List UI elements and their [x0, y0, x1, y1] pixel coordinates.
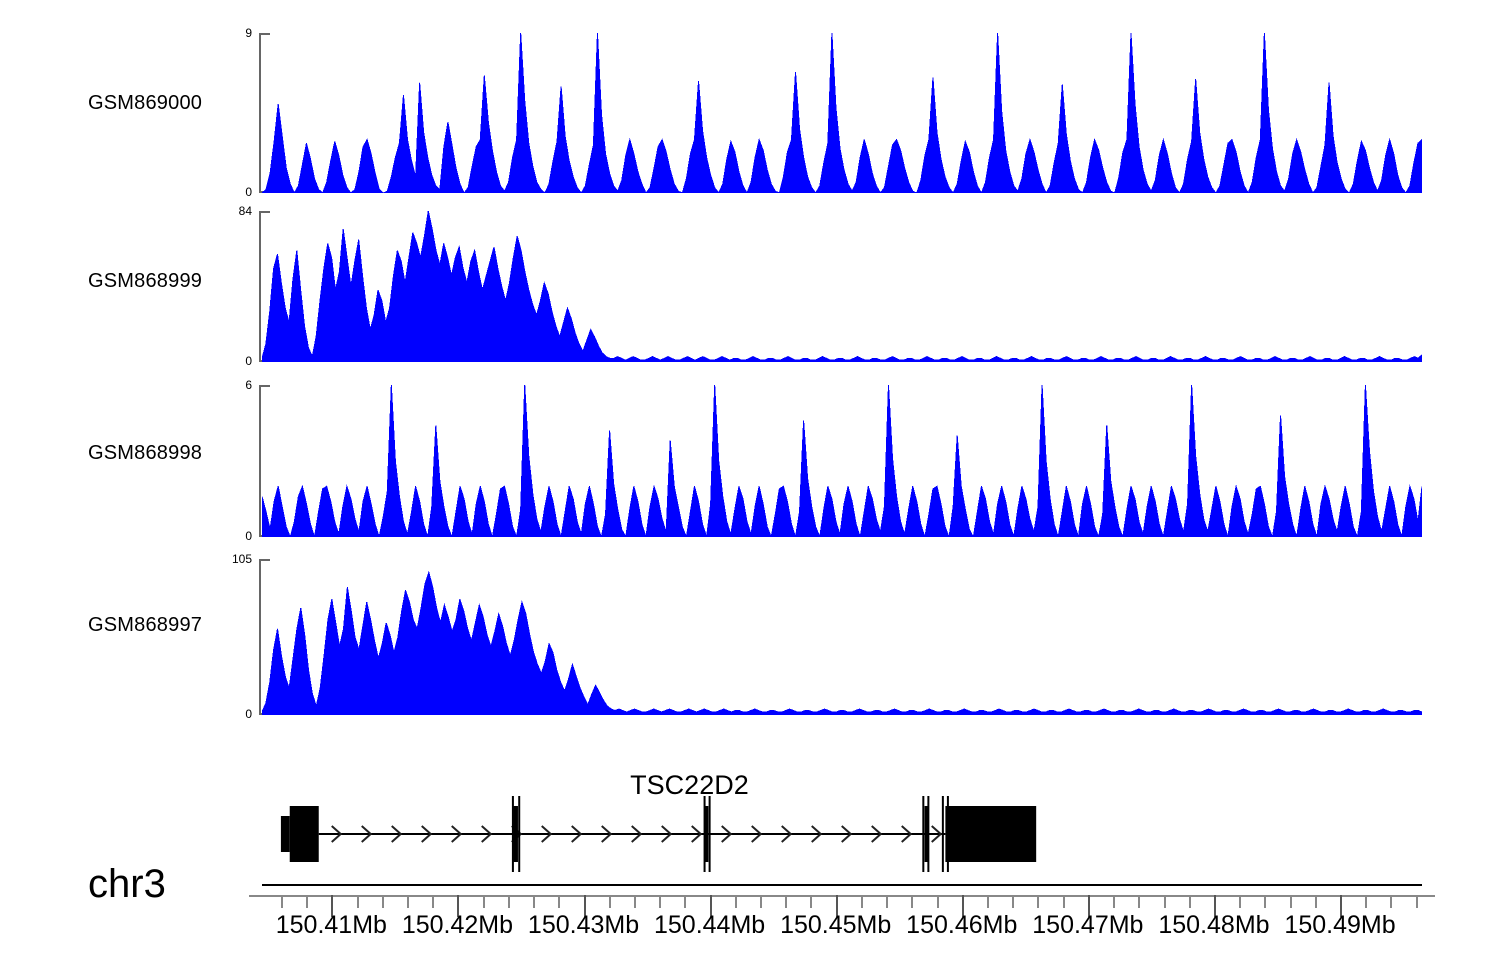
ruler-minor-tick	[1264, 895, 1266, 908]
ruler-minor-tick	[1164, 895, 1166, 908]
y-axis-max-label: 6	[192, 379, 252, 391]
ruler-minor-tick	[659, 895, 661, 908]
ruler-minor-tick	[1189, 895, 1191, 908]
coordinate-ruler[interactable]: 150.41Mb150.42Mb150.43Mb150.44Mb150.45Mb…	[0, 895, 1500, 980]
ruler-minor-tick	[483, 895, 485, 908]
ruler-minor-tick	[1390, 895, 1392, 908]
ruler-minor-tick	[1416, 895, 1418, 908]
ruler-minor-tick	[558, 895, 560, 908]
ruler-axis-line	[249, 895, 1435, 897]
ruler-minor-tick	[987, 895, 989, 908]
track-signal-plot[interactable]	[262, 33, 1422, 193]
ruler-tick-label: 150.47Mb	[1032, 913, 1143, 938]
ruler-minor-tick	[306, 895, 308, 908]
ruler-tick-label: 150.43Mb	[528, 913, 639, 938]
track-signal-plot[interactable]	[262, 559, 1422, 715]
ruler-minor-tick	[785, 895, 787, 908]
ruler-minor-tick	[1138, 895, 1140, 908]
genome-browser: GSM86900090GSM868999840GSM86899860GSM868…	[0, 0, 1500, 980]
ruler-minor-tick	[609, 895, 611, 908]
y-axis-max-label: 9	[192, 27, 252, 39]
ruler-minor-tick	[1365, 895, 1367, 908]
ruler-tick-label: 150.48Mb	[1158, 913, 1269, 938]
y-axis-min-label: 0	[192, 186, 252, 198]
y-axis-max-label: 84	[192, 205, 252, 217]
gene-track-baseline	[262, 884, 1422, 886]
ruler-minor-tick	[684, 895, 686, 908]
ruler-minor-tick	[1037, 895, 1039, 908]
ruler-minor-tick	[357, 895, 359, 908]
ruler-minor-tick	[281, 895, 283, 908]
y-axis-min-label: 0	[192, 355, 252, 367]
ruler-minor-tick	[1315, 895, 1317, 908]
ruler-minor-tick	[1063, 895, 1065, 908]
ruler-tick-label: 150.45Mb	[780, 913, 891, 938]
ruler-minor-tick	[886, 895, 888, 908]
track-sample-label: GSM868998	[88, 443, 202, 463]
y-axis-min-label: 0	[192, 530, 252, 542]
ruler-minor-tick	[937, 895, 939, 908]
track-sample-label: GSM868999	[88, 271, 202, 291]
ruler-minor-tick	[1113, 895, 1115, 908]
ruler-tick-label: 150.49Mb	[1284, 913, 1395, 938]
ruler-minor-tick	[1012, 895, 1014, 908]
ruler-minor-tick	[1290, 895, 1292, 908]
ruler-minor-tick	[508, 895, 510, 908]
ruler-minor-tick	[911, 895, 913, 908]
track-sample-label: GSM869000	[88, 93, 202, 113]
ruler-tick-label: 150.41Mb	[276, 913, 387, 938]
y-axis-max-label: 105	[192, 553, 252, 565]
ruler-minor-tick	[634, 895, 636, 908]
ruler-minor-tick	[382, 895, 384, 908]
ruler-minor-tick	[533, 895, 535, 908]
ruler-tick-label: 150.44Mb	[654, 913, 765, 938]
track-sample-label: GSM868997	[88, 615, 202, 635]
ruler-minor-tick	[407, 895, 409, 908]
ruler-tick-label: 150.42Mb	[402, 913, 513, 938]
gene-annotation-track[interactable]: TSC22D2	[0, 762, 1500, 887]
ruler-minor-tick	[735, 895, 737, 908]
ruler-minor-tick	[1239, 895, 1241, 908]
track-signal-plot[interactable]	[262, 211, 1422, 362]
y-axis-min-label: 0	[192, 708, 252, 720]
track-signal-plot[interactable]	[262, 385, 1422, 537]
ruler-tick-label: 150.46Mb	[906, 913, 1017, 938]
ruler-minor-tick	[861, 895, 863, 908]
ruler-minor-tick	[760, 895, 762, 908]
ruler-minor-tick	[432, 895, 434, 908]
ruler-minor-tick	[810, 895, 812, 908]
